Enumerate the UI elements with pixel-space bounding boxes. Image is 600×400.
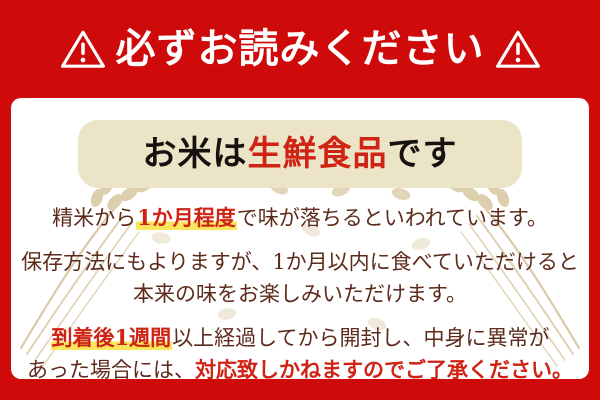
- text-segment: で味が落ちるといわれています。: [237, 206, 548, 230]
- text-segment-emphasis: 到着後1週間: [51, 325, 173, 350]
- paragraph-2: 保存方法にもよりますが、1か月以内に食べていただけると 本来の味をお楽しみいただ…: [11, 246, 589, 310]
- text-line: 保存方法にもよりますが、1か月以内に食べていただけると: [11, 246, 589, 278]
- warning-triangle-icon: [495, 28, 541, 70]
- text-segment-emphasis: 1か月程度: [136, 205, 237, 230]
- text-segment: 精米から: [52, 206, 136, 230]
- badge-text-after: です: [388, 134, 458, 174]
- highlight-badge: お米は生鮮食品です: [78, 120, 522, 188]
- warning-triangle-icon: [60, 28, 106, 70]
- body-copy: 精米から1か月程度で味が落ちるといわれています。 保存方法にもよりますが、1か月…: [11, 202, 589, 379]
- page-title: 必ずお読みください: [116, 29, 485, 69]
- text-line: 本来の味をお楽しみいただけます。: [11, 278, 589, 310]
- text-segment: あった場合には、: [27, 358, 195, 379]
- badge-text-emphasis: 生鮮食品: [248, 134, 388, 174]
- text-segment: 保存方法にもよりますが、1か月以内に食べていただけると: [21, 250, 579, 274]
- content-panel: お米は生鮮食品です 精米から1か月程度で味が落ちるといわれています。 保存方法に…: [11, 98, 589, 379]
- text-segment: 以上経過してから開封し、中身に異常が: [172, 326, 549, 350]
- text-segment-emphasis: 対応致しかねますのでご了承ください。: [195, 357, 573, 379]
- banner-header: 必ずお読みください: [0, 0, 600, 98]
- text-line: あった場合には、対応致しかねますのでご了承ください。: [11, 354, 589, 379]
- paragraph-1: 精米から1か月程度で味が落ちるといわれています。: [11, 202, 589, 234]
- badge-text: お米は生鮮食品です: [143, 137, 458, 171]
- text-segment: 本来の味をお楽しみいただけます。: [133, 282, 467, 306]
- text-line: 到着後1週間以上経過してから開封し、中身に異常が: [11, 322, 589, 354]
- paragraph-3: 到着後1週間以上経過してから開封し、中身に異常が あった場合には、対応致しかねま…: [11, 322, 589, 379]
- notice-banner: 必ずお読みください: [0, 0, 600, 400]
- text-line: 精米から1か月程度で味が落ちるといわれています。: [11, 202, 589, 234]
- badge-text-before: お米は: [143, 134, 248, 174]
